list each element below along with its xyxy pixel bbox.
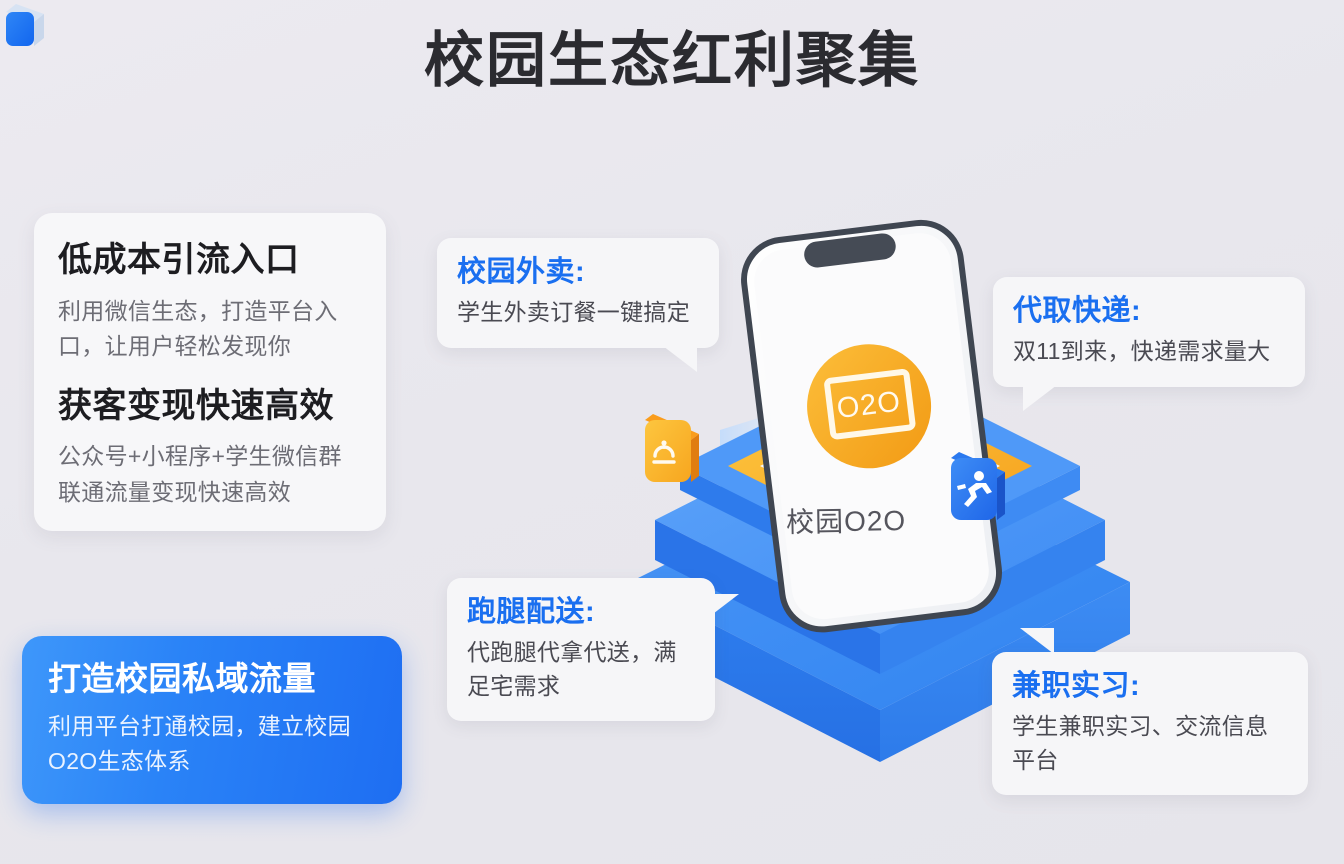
info-block-low-cost-entry: 低成本引流入口 利用微信生态，打造平台入口，让用户轻松发现你 <box>58 239 362 365</box>
callout-heading: 代取快递: <box>1013 293 1285 329</box>
highlight-card-heading: 打造校园私域流量 <box>48 658 376 699</box>
infographic-canvas: 校园生态红利聚集 低成本引流入口 利用微信生态，打造平台入口，让用户轻松发现你 … <box>0 0 1344 864</box>
info-block-body: 利用微信生态，打造平台入口，让用户轻松发现你 <box>58 294 362 365</box>
highlight-card-body: 利用平台打通校园，建立校园O2O生态体系 <box>48 709 376 778</box>
callout-body: 学生兼职实习、交流信息平台 <box>1012 710 1288 777</box>
bubble-tail <box>1023 385 1057 411</box>
info-block-customer-monetization: 获客变现快速高效 公众号+小程序+学生微信群联通流量变现快速高效 <box>58 385 362 511</box>
callout-campus-takeout[interactable]: 校园外卖: 学生外卖订餐一键搞定 <box>437 238 719 348</box>
phone-app-label: 校园O2O <box>786 499 907 541</box>
info-block-body: 公众号+小程序+学生微信群联通流量变现快速高效 <box>58 439 362 510</box>
callout-heading: 跑腿配送: <box>467 594 695 630</box>
bubble-tail <box>663 346 697 372</box>
info-block-heading: 低成本引流入口 <box>58 239 362 282</box>
page-title: 校园生态红利聚集 <box>0 26 1344 95</box>
callout-body: 双11到来，快递需求量大 <box>1013 335 1285 368</box>
highlight-card-private-traffic[interactable]: 打造校园私域流量 利用平台打通校园，建立校园O2O生态体系 <box>22 636 402 804</box>
info-block-heading: 获客变现快速高效 <box>58 385 362 428</box>
running-person-icon <box>943 450 1013 528</box>
left-info-panel: 低成本引流入口 利用微信生态，打造平台入口，让用户轻松发现你 获客变现快速高效 … <box>34 213 386 531</box>
callout-parttime-internship[interactable]: 兼职实习: 学生兼职实习、交流信息平台 <box>992 652 1308 795</box>
callout-express-pickup[interactable]: 代取快递: 双11到来，快递需求量大 <box>993 277 1305 387</box>
callout-body: 学生外卖订餐一键搞定 <box>457 296 699 329</box>
callout-heading: 校园外卖: <box>457 254 699 290</box>
bubble-tail <box>705 594 739 620</box>
callout-heading: 兼职实习: <box>1012 668 1288 704</box>
bubble-tail <box>1020 628 1054 654</box>
callout-body: 代跑腿代拿代送，满足宅需求 <box>467 636 695 703</box>
food-cloche-icon <box>637 412 707 490</box>
callout-errand-delivery[interactable]: 跑腿配送: 代跑腿代拿代送，满足宅需求 <box>447 578 715 721</box>
